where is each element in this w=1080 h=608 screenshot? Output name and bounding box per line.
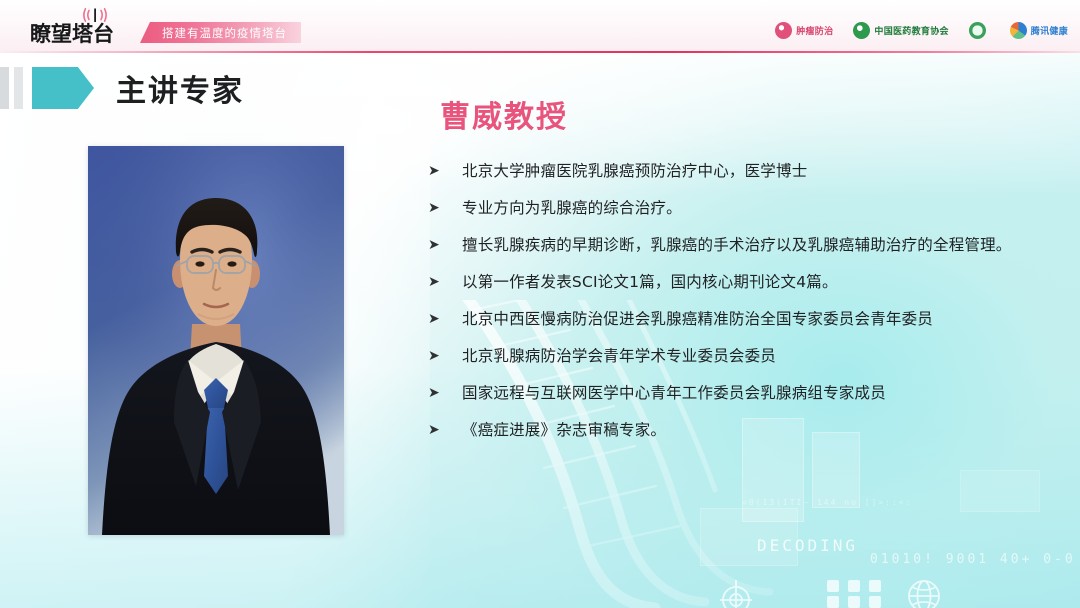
- partner-name: 肿瘤防治: [796, 24, 833, 37]
- list-item-label: 北京乳腺病防治学会青年学术专业委员会委员: [462, 345, 776, 368]
- partner-name: 中国医药教育协会: [874, 24, 948, 37]
- list-item-label: 擅长乳腺疾病的早期诊断，乳腺癌的手术治疗以及乳腺癌辅助治疗的全程管理。: [462, 234, 1012, 257]
- page-title: 主讲专家: [116, 66, 244, 110]
- list-item: ➤ 专业方向为乳腺癌的综合治疗。: [428, 197, 1028, 220]
- circle-logo-icon: [853, 22, 870, 39]
- bullet-arrow-icon: ➤: [428, 271, 462, 293]
- bullet-arrow-icon: ➤: [428, 197, 462, 219]
- bullet-arrow-icon: ➤: [428, 345, 462, 367]
- target-icon: [718, 580, 752, 608]
- globe-icon: [906, 578, 942, 608]
- background-binary-label: 01010! 9001 40+ 0-0: [870, 552, 1076, 567]
- circle-logo-icon: [775, 22, 792, 39]
- bullet-arrow-icon: ➤: [428, 308, 462, 330]
- slide-root: <0(13(ITI~ 144 no []>::<: DECODING 01010…: [0, 0, 1080, 608]
- list-item-label: 北京大学肿瘤医院乳腺癌预防治疗中心，医学博士: [462, 160, 807, 183]
- chevron-right-icon: [32, 67, 94, 109]
- partner-logo-1: 肿瘤防治: [775, 20, 833, 40]
- page-header: 瞭望塔台 搭建有温度的疫情塔台 肿瘤防治 中国医药教育协会 腾讯健康: [0, 0, 1080, 53]
- header-ribbon: 搭建有温度的疫情塔台: [140, 22, 301, 43]
- list-item: ➤ 擅长乳腺疾病的早期诊断，乳腺癌的手术治疗以及乳腺癌辅助治疗的全程管理。: [428, 234, 1028, 257]
- brand-mark: 瞭望塔台: [30, 9, 138, 45]
- circle-shield-logo-icon: [969, 22, 986, 39]
- background-faint-label: <0(13(ITI~ 144 no []>::<:: [742, 498, 912, 507]
- list-item-label: 专业方向为乳腺癌的综合治疗。: [462, 197, 682, 220]
- list-item: ➤ 北京大学肿瘤医院乳腺癌预防治疗中心，医学博士: [428, 160, 1028, 183]
- background-decoding-label: DECODING: [757, 536, 858, 555]
- bullet-arrow-icon: ➤: [428, 419, 462, 441]
- list-item-label: 国家远程与互联网医学中心青年工作委员会乳腺病组专家成员: [462, 382, 886, 405]
- list-item: ➤ 国家远程与互联网医学中心青年工作委员会乳腺病组专家成员: [428, 382, 1028, 405]
- header-divider: [0, 51, 1080, 53]
- brand-name: 瞭望塔台: [30, 23, 114, 45]
- partner-logos: 肿瘤防治 中国医药教育协会 腾讯健康: [775, 19, 1068, 41]
- section-title-bar: 主讲专家: [0, 66, 244, 110]
- list-item: ➤ 北京乳腺病防治学会青年学术专业委员会委员: [428, 345, 1028, 368]
- partner-logo-4: 腾讯健康: [1010, 20, 1068, 40]
- bullet-arrow-icon: ➤: [428, 382, 462, 404]
- bullet-arrow-icon: ➤: [428, 160, 462, 182]
- bullet-arrow-icon: ➤: [428, 234, 462, 256]
- network-nodes-icon: [823, 578, 885, 608]
- ribbon-text: 搭建有温度的疫情塔台: [162, 25, 287, 41]
- signal-tower-icon: [82, 8, 108, 22]
- partner-name: 腾讯健康: [1031, 24, 1068, 37]
- list-item-label: 北京中西医慢病防治促进会乳腺癌精准防治全国专家委员会青年委员: [462, 308, 933, 331]
- circle-leaf-logo-icon: [1010, 22, 1027, 39]
- list-item: ➤ 北京中西医慢病防治促进会乳腺癌精准防治全国专家委员会青年委员: [428, 308, 1028, 331]
- expert-portrait-photo: [88, 146, 344, 535]
- partner-logo-2: 中国医药教育协会: [853, 20, 948, 40]
- expert-name: 曹威教授: [440, 92, 568, 136]
- list-item-label: 《癌症进展》杂志审稿专家。: [462, 419, 666, 442]
- list-item-label: 以第一作者发表SCI论文1篇，国内核心期刊论文4篇。: [462, 271, 838, 294]
- expert-bio-list: ➤ 北京大学肿瘤医院乳腺癌预防治疗中心，医学博士 ➤ 专业方向为乳腺癌的综合治疗…: [428, 160, 1028, 456]
- list-item: ➤ 以第一作者发表SCI论文1篇，国内核心期刊论文4篇。: [428, 271, 1028, 294]
- list-item: ➤ 《癌症进展》杂志审稿专家。: [428, 419, 1028, 442]
- title-tick-1: [0, 67, 9, 109]
- tech-panel: [960, 470, 1040, 512]
- partner-logo-3: [969, 20, 990, 40]
- title-tick-2: [14, 67, 23, 109]
- brand: 瞭望塔台: [30, 11, 138, 45]
